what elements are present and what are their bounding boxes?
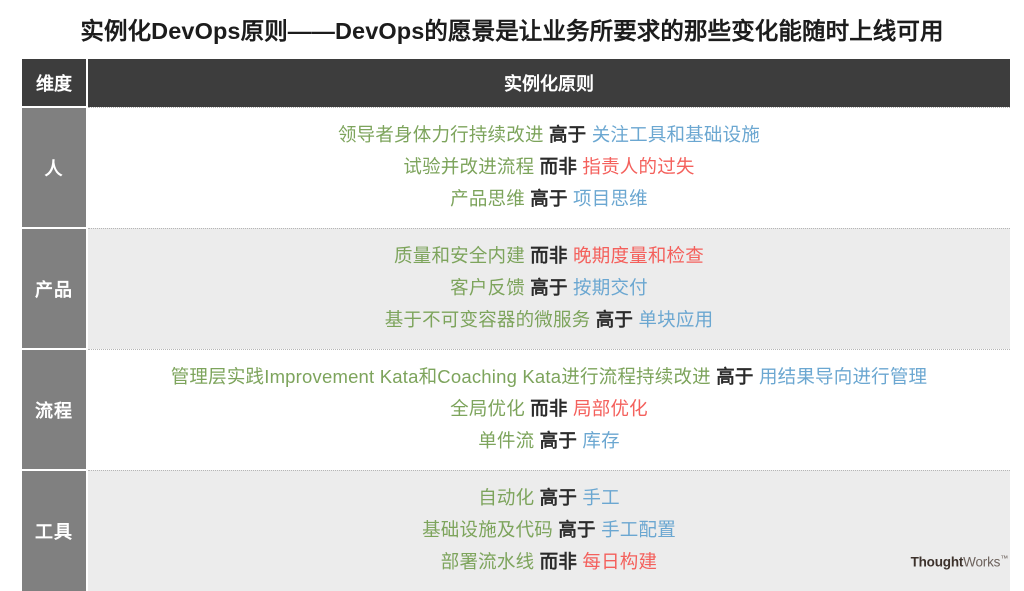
connector-text: 高于 xyxy=(549,124,586,145)
connector-text: 高于 xyxy=(596,309,633,330)
connector-text: 而非 xyxy=(530,245,567,266)
dimension-cell: 产品 xyxy=(22,228,87,349)
deprioritized-practice-text: 晚期度量和检查 xyxy=(573,245,704,266)
connector-text: 而非 xyxy=(540,156,577,177)
deprioritized-practice-text: 项目思维 xyxy=(573,188,648,209)
table-row: 流程管理层实践Improvement Kata和Coaching Kata进行流… xyxy=(22,349,1010,470)
connector-text: 高于 xyxy=(530,277,567,298)
table-row: 产品质量和安全内建 而非 晚期度量和检查客户反馈 高于 按期交付基于不可变容器的… xyxy=(22,228,1010,349)
deprioritized-practice-text: 每日构建 xyxy=(582,551,657,572)
logo-bold-text: Thought xyxy=(911,554,964,569)
principle-line: 领导者身体力行持续改进 高于 关注工具和基础设施 xyxy=(102,119,996,151)
deprioritized-practice-text: 按期交付 xyxy=(573,277,648,298)
connector-text: 而非 xyxy=(540,551,577,572)
page-title: 实例化DevOps原则——DevOps的愿景是让业务所要求的那些变化能随时上线可… xyxy=(0,12,1024,46)
column-header-dimension: 维度 xyxy=(22,59,87,107)
principle-cell: 质量和安全内建 而非 晚期度量和检查客户反馈 高于 按期交付基于不可变容器的微服… xyxy=(87,228,1010,349)
connector-text: 高于 xyxy=(540,487,577,508)
principle-line: 产品思维 高于 项目思维 xyxy=(102,183,996,215)
deprioritized-practice-text: 用结果导向进行管理 xyxy=(759,366,927,387)
table-row: 工具自动化 高于 手工基础设施及代码 高于 手工配置部署流水线 而非 每日构建 xyxy=(22,470,1010,591)
connector-text: 而非 xyxy=(530,398,567,419)
preferred-practice-text: 试验并改进流程 xyxy=(403,156,534,177)
preferred-practice-text: 管理层实践Improvement Kata和Coaching Kata进行流程持… xyxy=(171,366,711,387)
connector-text: 高于 xyxy=(558,519,595,540)
preferred-practice-text: 基础设施及代码 xyxy=(422,519,553,540)
logo-light-text: Works xyxy=(963,554,1000,569)
principle-line: 基础设施及代码 高于 手工配置 xyxy=(102,514,996,546)
principle-line: 试验并改进流程 而非 指责人的过失 xyxy=(102,151,996,183)
principle-line: 客户反馈 高于 按期交付 xyxy=(102,272,996,304)
preferred-practice-text: 全局优化 xyxy=(450,398,525,419)
preferred-practice-text: 部署流水线 xyxy=(441,551,535,572)
table-row: 人领导者身体力行持续改进 高于 关注工具和基础设施试验并改进流程 而非 指责人的… xyxy=(22,107,1010,228)
dimension-cell: 工具 xyxy=(22,470,87,591)
preferred-practice-text: 客户反馈 xyxy=(450,277,525,298)
dimension-cell: 流程 xyxy=(22,349,87,470)
connector-text: 高于 xyxy=(530,188,567,209)
principle-line: 基于不可变容器的微服务 高于 单块应用 xyxy=(102,304,996,336)
principle-line: 自动化 高于 手工 xyxy=(102,482,996,514)
principle-line: 部署流水线 而非 每日构建 xyxy=(102,546,996,578)
table-header-row: 维度 实例化原则 xyxy=(22,59,1010,107)
principle-cell: 自动化 高于 手工基础设施及代码 高于 手工配置部署流水线 而非 每日构建 xyxy=(87,470,1010,591)
connector-text: 高于 xyxy=(540,430,577,451)
preferred-practice-text: 自动化 xyxy=(478,487,534,508)
table-body: 人领导者身体力行持续改进 高于 关注工具和基础设施试验并改进流程 而非 指责人的… xyxy=(22,107,1010,591)
preferred-practice-text: 领导者身体力行持续改进 xyxy=(338,124,544,145)
principle-line: 质量和安全内建 而非 晚期度量和检查 xyxy=(102,240,996,272)
principle-line: 管理层实践Improvement Kata和Coaching Kata进行流程持… xyxy=(102,361,996,393)
deprioritized-practice-text: 库存 xyxy=(582,430,619,451)
deprioritized-practice-text: 局部优化 xyxy=(573,398,648,419)
preferred-practice-text: 单件流 xyxy=(478,430,534,451)
thoughtworks-logo: ThoughtWorks™ xyxy=(911,554,1008,570)
principle-line: 单件流 高于 库存 xyxy=(102,425,996,457)
column-header-principle: 实例化原则 xyxy=(87,59,1010,107)
principle-cell: 管理层实践Improvement Kata和Coaching Kata进行流程持… xyxy=(87,349,1010,470)
deprioritized-practice-text: 指责人的过失 xyxy=(582,156,694,177)
deprioritized-practice-text: 单块应用 xyxy=(638,309,713,330)
logo-trademark-icon: ™ xyxy=(1000,554,1008,563)
table-header: 维度 实例化原则 xyxy=(22,59,1010,107)
principle-line: 全局优化 而非 局部优化 xyxy=(102,393,996,425)
deprioritized-practice-text: 关注工具和基础设施 xyxy=(592,124,760,145)
deprioritized-practice-text: 手工配置 xyxy=(601,519,676,540)
slide-canvas: 实例化DevOps原则——DevOps的愿景是让业务所要求的那些变化能随时上线可… xyxy=(0,0,1024,578)
dimension-cell: 人 xyxy=(22,107,87,228)
principle-cell: 领导者身体力行持续改进 高于 关注工具和基础设施试验并改进流程 而非 指责人的过… xyxy=(87,107,1010,228)
deprioritized-practice-text: 手工 xyxy=(582,487,619,508)
connector-text: 高于 xyxy=(716,366,753,387)
principles-table: 维度 实例化原则 人领导者身体力行持续改进 高于 关注工具和基础设施试验并改进流… xyxy=(22,59,1010,591)
preferred-practice-text: 产品思维 xyxy=(450,188,525,209)
preferred-practice-text: 质量和安全内建 xyxy=(394,245,525,266)
preferred-practice-text: 基于不可变容器的微服务 xyxy=(385,309,591,330)
